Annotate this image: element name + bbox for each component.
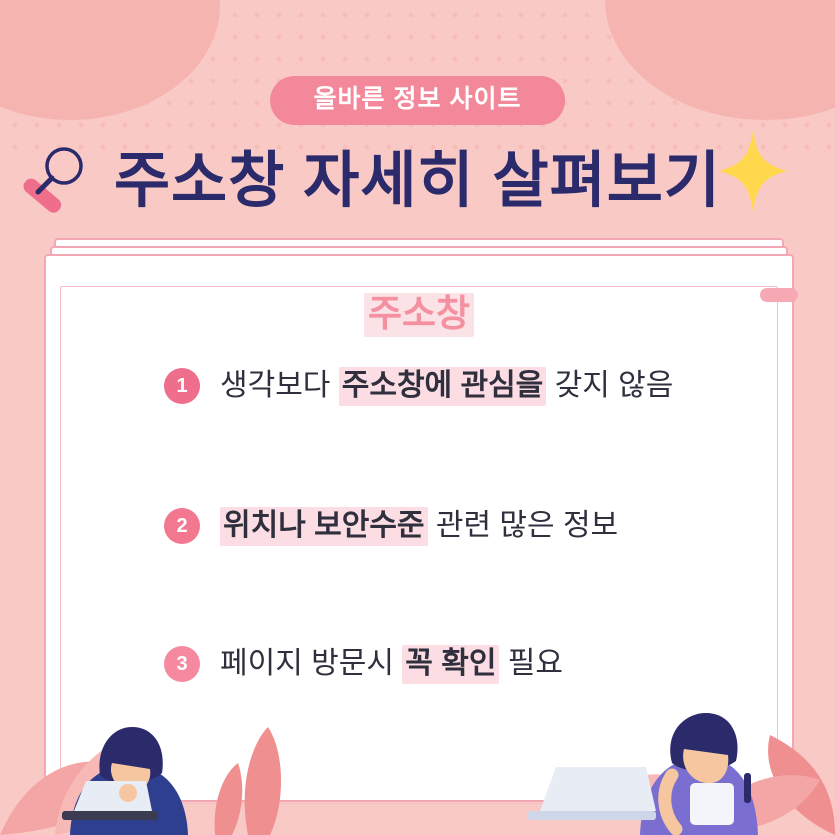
- list-item-text: 페이지 방문시 꼭 확인 필요: [220, 646, 563, 682]
- list-item-number: 3: [164, 646, 200, 682]
- sparkle-icon: [717, 128, 789, 214]
- list-item: 1 생각보다 주소창에 관심을 갖지 않음: [164, 368, 673, 404]
- paper-sheet-front: 주소창 1 생각보다 주소창에 관심을 갖지 않음 2 위치나 보안수준 관련 …: [44, 254, 794, 802]
- list-item-number: 2: [164, 508, 200, 544]
- list-item-text-pre: 생각보다: [220, 369, 339, 402]
- list-item-text-post: 관련 많은 정보: [428, 509, 619, 542]
- paper-card: 주소창 1 생각보다 주소창에 관심을 갖지 않음 2 위치나 보안수준 관련 …: [44, 238, 792, 798]
- list-item-text-highlight: 위치나 보안수준: [220, 507, 428, 546]
- list-item-number: 1: [164, 368, 200, 404]
- magnifier-icon: [14, 142, 100, 228]
- badge-label: 올바른 정보 사이트: [270, 76, 566, 125]
- list-item-text-post: 필요: [499, 647, 563, 680]
- card-title: 주소창: [46, 294, 792, 335]
- list-item-text-highlight: 주소창에 관심을: [339, 367, 547, 406]
- list-item-text-post: 갖지 않음: [546, 369, 673, 402]
- list-item: 3 페이지 방문시 꼭 확인 필요: [164, 646, 563, 682]
- card-title-text: 주소창: [364, 293, 474, 337]
- list-item-text-highlight: 꼭 확인: [402, 645, 499, 684]
- poster-canvas: 올바른 정보 사이트 주소창 자세히 살펴보기 주소창 1 생각보다 주소창에 …: [0, 0, 835, 835]
- list-item: 2 위치나 보안수준 관련 많은 정보: [164, 508, 618, 544]
- list-item-text: 생각보다 주소창에 관심을 갖지 않음: [220, 368, 673, 404]
- list-item-text: 위치나 보안수준 관련 많은 정보: [220, 508, 618, 544]
- list-item-text-pre: 페이지 방문시: [220, 647, 402, 680]
- page-title: 주소창 자세히 살펴보기: [0, 150, 835, 211]
